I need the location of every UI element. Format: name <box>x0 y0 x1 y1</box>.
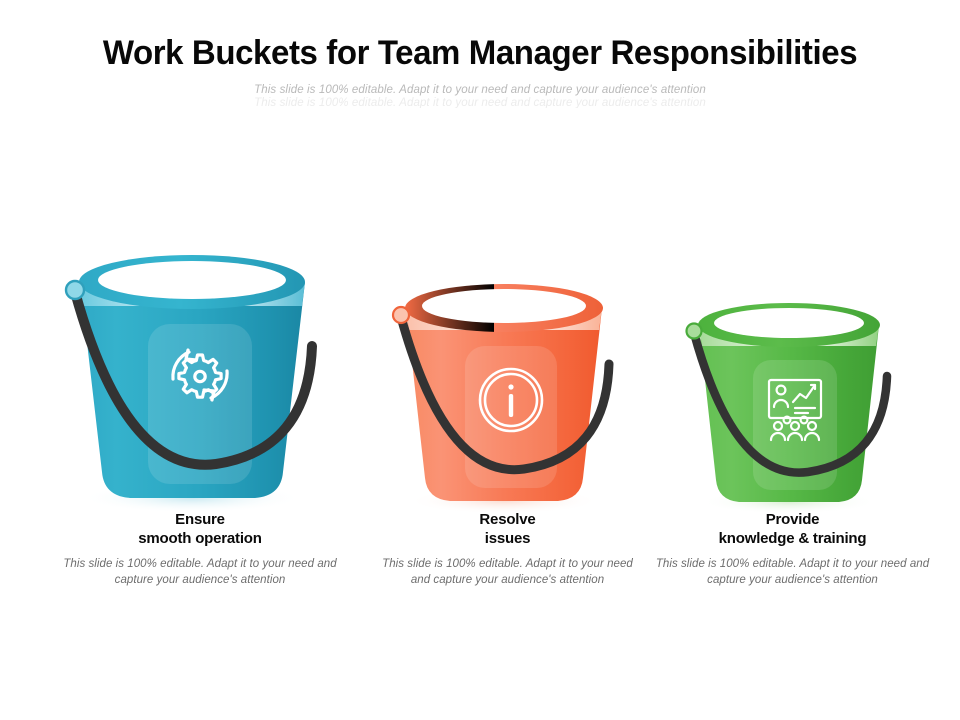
page-title: Work Buckets for Team Manager Responsibi… <box>14 34 945 73</box>
handle-grommet <box>393 307 409 323</box>
bucket-rim-inner <box>98 261 286 299</box>
slide-canvas: Work Buckets for Team Manager Responsibi… <box>0 0 960 720</box>
bucket-graphic-orange <box>370 272 650 520</box>
caption-resolve-issues: Resolve issues This slide is 100% editab… <box>375 510 640 588</box>
caption-title-line2: knowledge & training <box>650 529 935 548</box>
bucket-graphic-blue <box>40 240 360 520</box>
caption-title-line1: Ensure <box>55 510 345 529</box>
caption-title-line1: Resolve <box>375 510 640 529</box>
caption-title-line1: Provide <box>650 510 935 529</box>
caption-title-line2: smooth operation <box>55 529 345 548</box>
bucket-rim-inner <box>422 289 586 323</box>
caption-title: Ensure smooth operation <box>55 510 345 548</box>
caption-title: Resolve issues <box>375 510 640 548</box>
bucket-group-resolve-issues[interactable] <box>370 272 650 520</box>
caption-body: This slide is 100% editable. Adapt it to… <box>375 557 640 588</box>
caption-title: Provide knowledge & training <box>650 510 935 548</box>
caption-body: This slide is 100% editable. Adapt it to… <box>55 557 345 588</box>
caption-body: This slide is 100% editable. Adapt it to… <box>650 557 935 588</box>
bucket-group-provide-knowledge-training[interactable] <box>665 292 925 520</box>
caption-provide-knowledge-training: Provide knowledge & training This slide … <box>650 510 935 588</box>
caption-title-line2: issues <box>375 529 640 548</box>
caption-ensure-smooth-operation: Ensure smooth operation This slide is 10… <box>55 510 345 588</box>
bucket-rim-inner <box>714 308 864 338</box>
slide-header: Work Buckets for Team Manager Responsibi… <box>0 0 960 130</box>
page-subtitle-ghost: This slide is 100% editable. Adapt it to… <box>0 97 960 108</box>
bucket-graphic-green <box>665 292 925 520</box>
page-subtitle: This slide is 100% editable. Adapt it to… <box>0 84 960 96</box>
bucket-group-ensure-smooth-operation[interactable] <box>40 240 360 520</box>
handle-grommet <box>687 324 702 339</box>
handle-grommet <box>66 281 84 299</box>
